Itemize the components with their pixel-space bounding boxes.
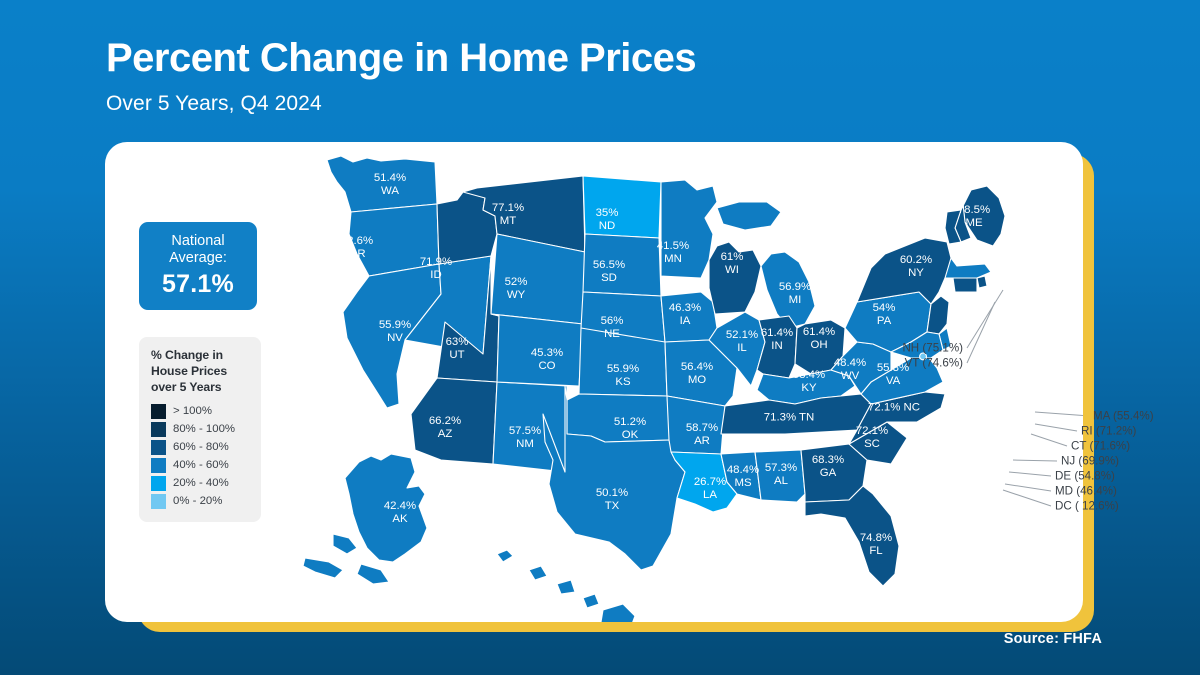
state-NY (857, 238, 957, 304)
national-average-label-1: National (171, 233, 224, 250)
national-average-label-2: Average: (169, 250, 227, 267)
state-IA (661, 292, 717, 342)
legend-title: % Change in House Prices over 5 Years (151, 347, 251, 396)
legend-title-line-1: % Change in (151, 347, 251, 363)
national-average-value: 57.1% (162, 270, 234, 299)
legend-swatch (151, 404, 166, 419)
source-note: Source: FHFA (1004, 631, 1102, 647)
state-DC (920, 353, 927, 360)
state-AZ (411, 378, 497, 464)
page-title: Percent Change in Home Prices (106, 36, 1006, 80)
legend-row: 80% - 100% (151, 421, 251, 438)
legend-items: > 100%80% - 100%60% - 80%40% - 60%20% - … (151, 403, 251, 510)
legend-label: 40% - 60% (173, 459, 229, 471)
legend-swatch (151, 422, 166, 437)
legend-label: 20% - 40% (173, 477, 229, 489)
state-SD (583, 234, 661, 296)
legend-swatch (151, 494, 166, 509)
legend-swatch (151, 476, 166, 491)
legend-title-line-3: over 5 Years (151, 379, 251, 395)
legend-title-line-2: House Prices (151, 363, 251, 379)
legend-label: > 100% (173, 405, 212, 417)
state-IN (757, 316, 797, 378)
legend: % Change in House Prices over 5 Years > … (139, 337, 261, 522)
state-FL (805, 486, 899, 586)
legend-row: 0% - 20% (151, 493, 251, 510)
legend-label: 80% - 100% (173, 423, 235, 435)
legend-row: 60% - 80% (151, 439, 251, 456)
legend-row: 20% - 40% (151, 475, 251, 492)
legend-swatch (151, 458, 166, 473)
legend-row: > 100% (151, 403, 251, 420)
state-AR (667, 396, 725, 454)
state-WA (327, 156, 437, 212)
state-WI (709, 242, 761, 314)
callout-label-ma: MA (55.4%) (1093, 410, 1154, 423)
state-OR (349, 204, 439, 276)
state-CT (953, 278, 977, 292)
state-CO (491, 314, 583, 386)
legend-row: 40% - 60% (151, 457, 251, 474)
page-subtitle: Over 5 Years, Q4 2024 (106, 92, 1006, 116)
state-AL (755, 450, 805, 502)
legend-swatch (151, 440, 166, 455)
legend-label: 60% - 80% (173, 441, 229, 453)
national-average-box: National Average: 57.1% (139, 222, 257, 310)
state-MA (945, 258, 991, 278)
state-ND (583, 176, 661, 238)
state-RI (977, 276, 987, 288)
legend-label: 0% - 20% (173, 495, 222, 507)
state-AK (303, 454, 427, 584)
header: Percent Change in Home Prices Over 5 Yea… (106, 36, 1006, 116)
state-HI (497, 550, 635, 622)
